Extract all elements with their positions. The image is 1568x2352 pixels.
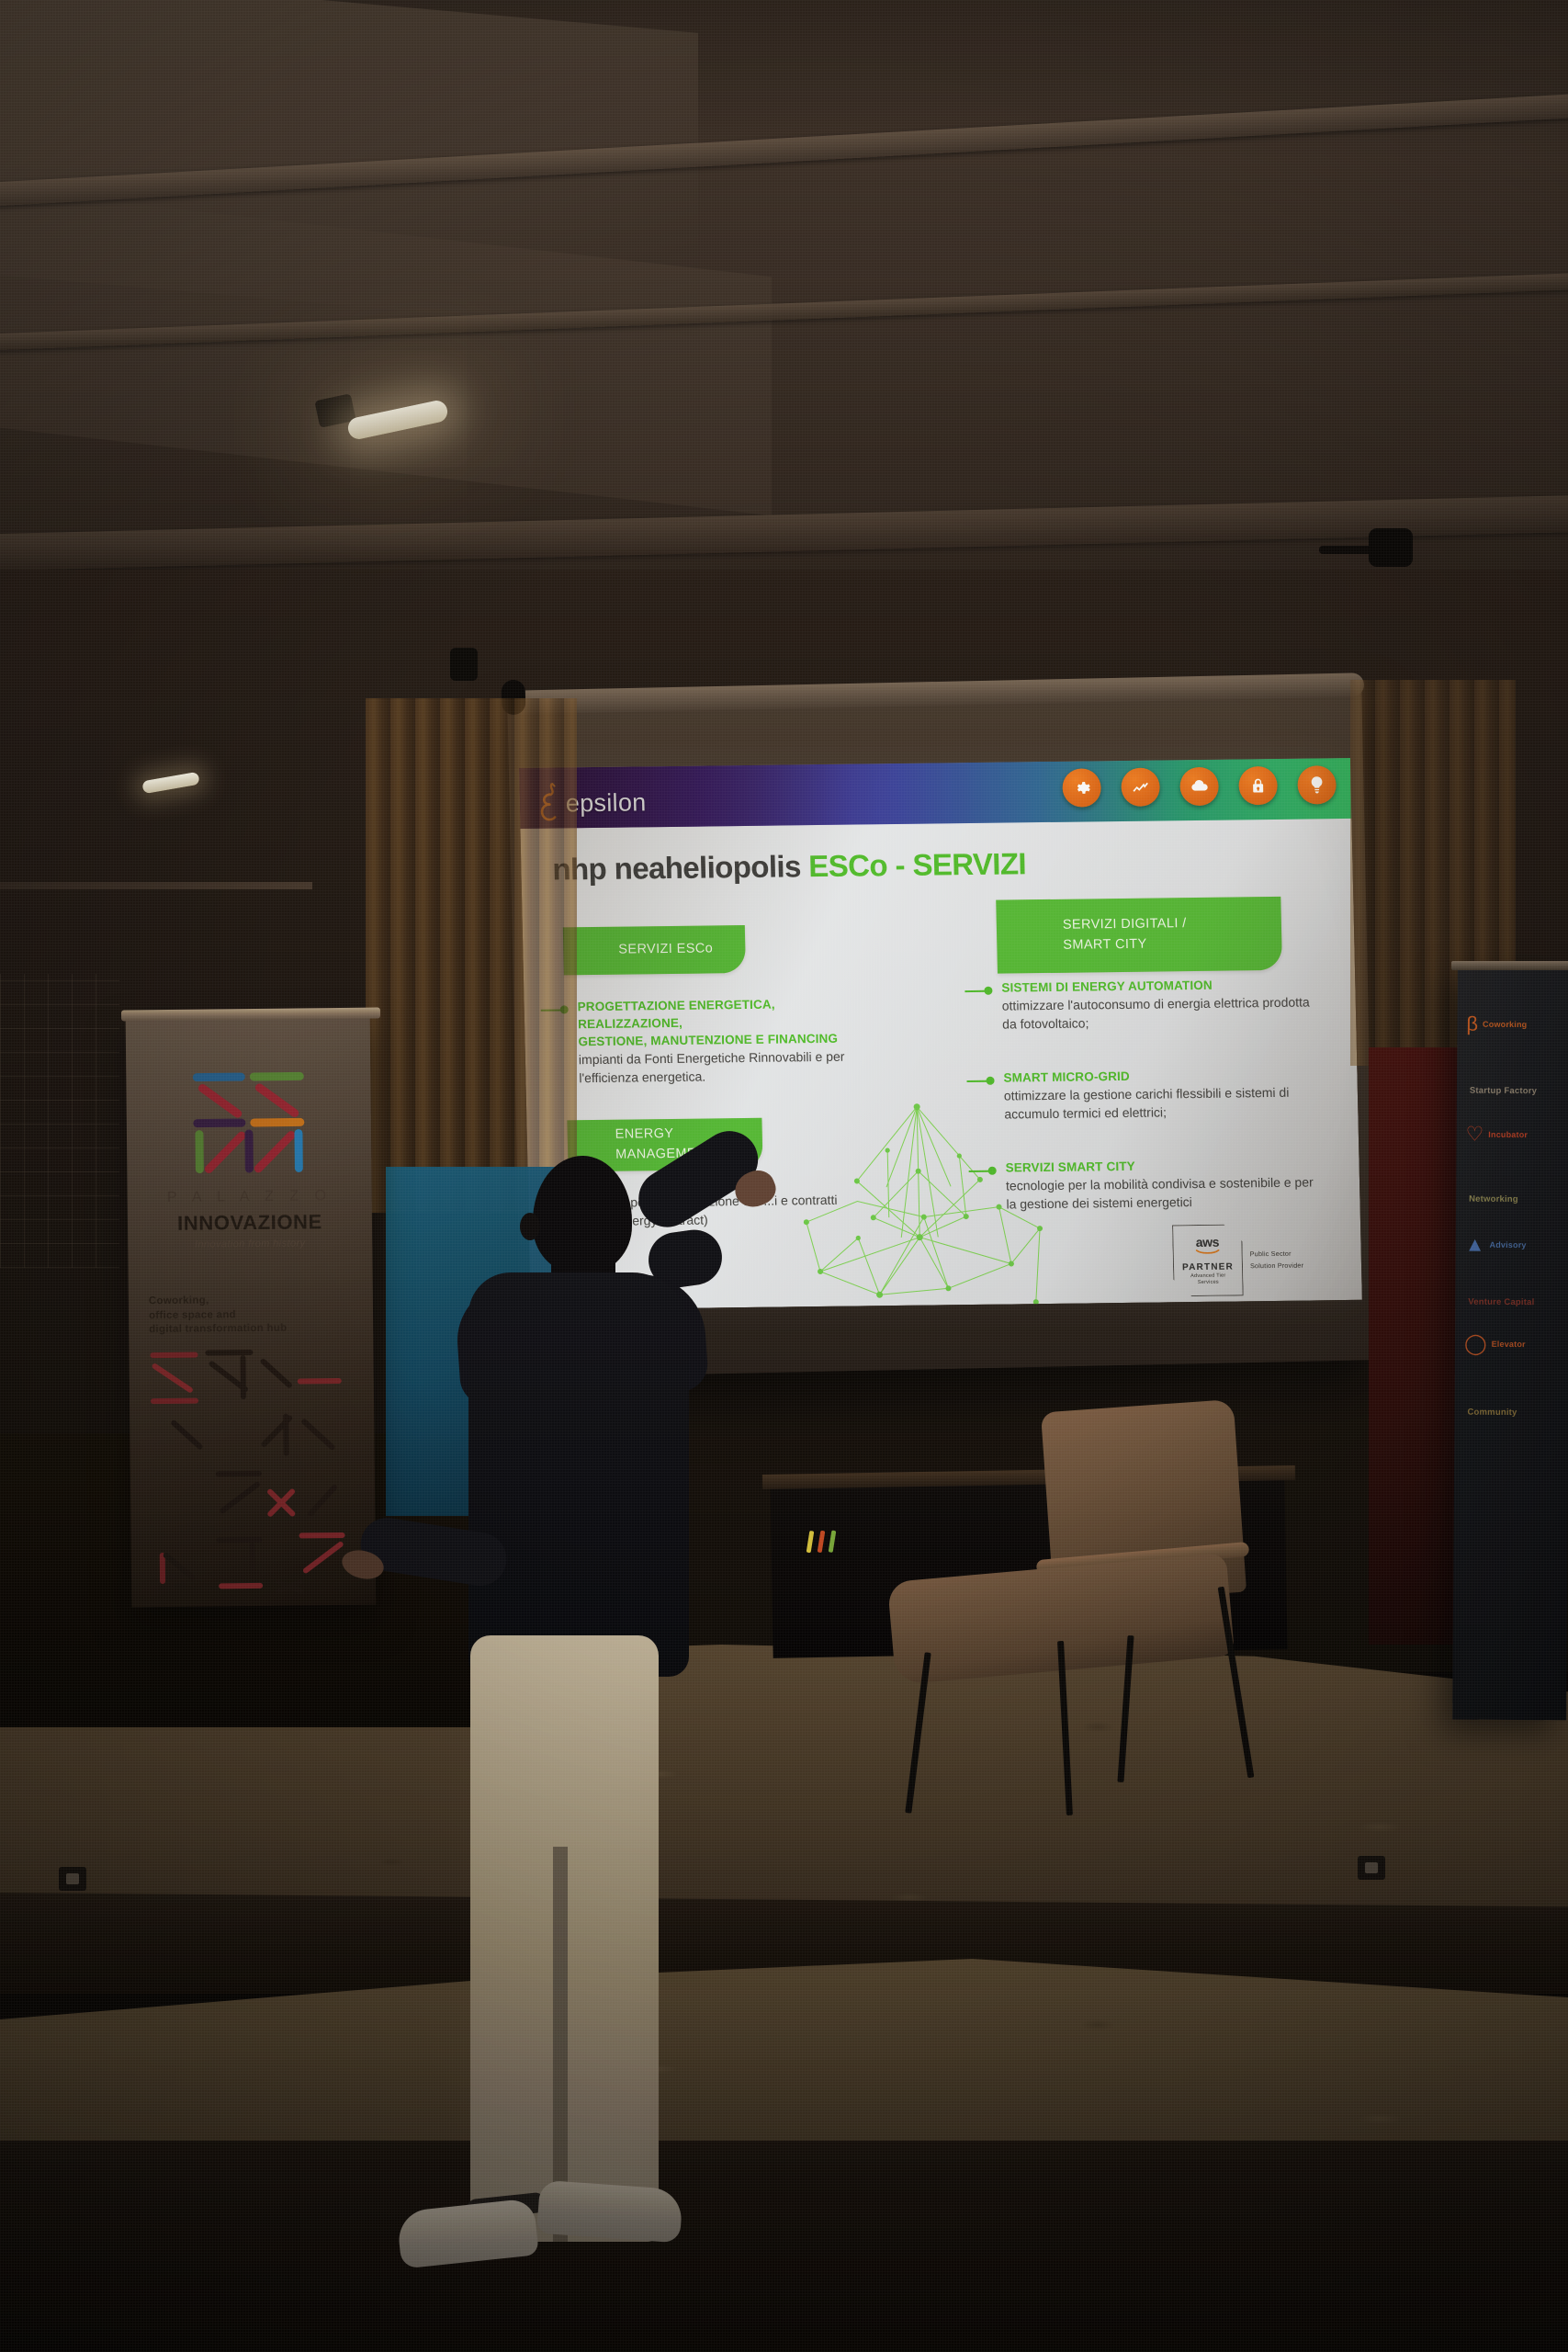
aws-tier-label: PARTNER <box>1182 1261 1234 1272</box>
right-banner-rail <box>1451 961 1568 970</box>
presenter-jacket <box>468 1272 689 1677</box>
aws-qualifier: Public Sector <box>1250 1249 1303 1259</box>
banner-item-label: Networking <box>1469 1194 1518 1204</box>
aws-badge-hexagon: aws PARTNER Advanced Tier Services <box>1172 1224 1244 1296</box>
arrow-bullet-icon <box>969 1167 997 1175</box>
cloud-icon <box>1179 767 1219 807</box>
banner-name-line2: INNOVAZIONE <box>128 1210 372 1237</box>
bullet-energy-automation: SISTEMI DI ENERGY AUTOMATION ottimizzare… <box>964 975 1316 1035</box>
bullet-body: ottimizzare la gestione carichi flessibi… <box>1004 1084 1319 1125</box>
bullet-heading: PROGETTAZIONE ENERGETICA, REALIZZAZIONE,… <box>577 995 853 1051</box>
stage-floor-socket <box>59 1867 86 1891</box>
armchair <box>882 1406 1277 1819</box>
pill-label: SERVIZI DIGITALI / SMART CITY <box>1063 914 1188 955</box>
palazzo-innovazione-logo-icon <box>184 1065 313 1180</box>
ceiling-beam <box>0 494 1568 571</box>
slide-title: nhp neaheliopolis ESCo - SERVIZI <box>552 846 1026 887</box>
banner-item-label: Incubator <box>1488 1130 1528 1139</box>
bullet-progettazione: PROGETTAZIONE ENERGETICA, REALIZZAZIONE,… <box>540 995 854 1089</box>
banner-item-label: Community <box>1467 1408 1517 1418</box>
aws-qualifier: Solution Provider <box>1250 1261 1303 1271</box>
aws-qualifiers: Public Sector Solution Provider <box>1250 1249 1304 1271</box>
slide-title-primary: nhp neaheliopolis <box>552 849 801 886</box>
banner-item-label: Venture Capital <box>1468 1297 1534 1308</box>
wall-grid-panel <box>0 974 119 1268</box>
wall-rail <box>0 882 312 889</box>
banner-subtitle: Coworking, office space and digital tran… <box>149 1293 351 1338</box>
slide-icon-row <box>1062 765 1337 808</box>
banner-dash-pattern <box>141 1344 365 1594</box>
lightbulb-icon <box>1297 765 1337 805</box>
lock-icon <box>1238 766 1278 806</box>
aws-tier-sub: Advanced Tier Services <box>1190 1272 1226 1285</box>
window-curtain-left <box>366 698 577 1213</box>
pill-servizi-esco: SERVIZI ESCo <box>563 925 746 975</box>
cabinet-color-marks <box>807 1531 834 1554</box>
banner-item-label: Elevator <box>1492 1340 1526 1349</box>
arrow-bullet-icon <box>964 987 992 995</box>
gear-icon <box>1062 768 1101 808</box>
arrow-bullet-icon <box>966 1077 994 1085</box>
rocket-icon: ▲ <box>1465 1235 1485 1255</box>
elevator-icon: ◯ <box>1464 1334 1487 1354</box>
stage-floor-socket <box>1358 1856 1385 1880</box>
presenter-ear <box>520 1213 540 1240</box>
aws-partner-badge: aws PARTNER Advanced Tier Services Publi… <box>1172 1223 1348 1296</box>
pill-label: SERVIZI ESCo <box>618 940 713 961</box>
bullet-body: ottimizzare l'autoconsumo di energia ele… <box>1002 994 1317 1035</box>
banner-item-label: Advisory <box>1489 1240 1526 1249</box>
aws-smile-icon <box>1196 1248 1220 1254</box>
stage-lower-face <box>0 2141 1568 2352</box>
banner-item-label: Coworking <box>1483 1020 1527 1029</box>
startup-services-banner: β Coworking Startup Factory ♡ Incubator … <box>1452 967 1568 1721</box>
chair-leg <box>1218 1587 1255 1779</box>
banner-name-line1: P A L A Z Z O <box>128 1188 372 1207</box>
banner-tagline: Innovation from history <box>128 1238 372 1251</box>
heart-icon: ♡ <box>1466 1125 1484 1145</box>
presenter-shoe-right <box>536 2180 683 2244</box>
ceiling-camera <box>1369 528 1413 567</box>
epsilon-logo-text: epsilon <box>566 788 647 818</box>
trend-chart-icon <box>1121 767 1160 807</box>
projector-rail-clip <box>450 648 478 681</box>
slide-title-accent: ESCo - SERVIZI <box>808 846 1027 883</box>
bullet-smart-micro-grid: SMART MICRO-GRID ottimizzare la gestione… <box>966 1065 1318 1125</box>
bullet-body: tecnologie per la mobilità condivisa e s… <box>1006 1174 1321 1215</box>
palazzo-innovazione-banner: P A L A Z Z O INNOVAZIONE Innovation fro… <box>126 1017 377 1608</box>
presentation-room-photo: epsilon nhp neaheliopolis ESCo - SERVIZI… <box>0 0 1568 2352</box>
aws-brand-text: aws <box>1196 1235 1220 1248</box>
bullet-body: impianti da Fonti Energetiche Rinnovabil… <box>579 1048 855 1088</box>
bullet-servizi-smart-city: SERVIZI SMART CITY tecnologie per la mob… <box>968 1155 1320 1215</box>
projected-slide: epsilon nhp neaheliopolis ESCo - SERVIZI… <box>519 758 1362 1310</box>
pill-servizi-digitali: SERVIZI DIGITALI / SMART CITY <box>996 897 1282 974</box>
banner-item-label: Startup Factory <box>1470 1086 1537 1097</box>
coworking-icon: β <box>1466 1014 1478 1035</box>
